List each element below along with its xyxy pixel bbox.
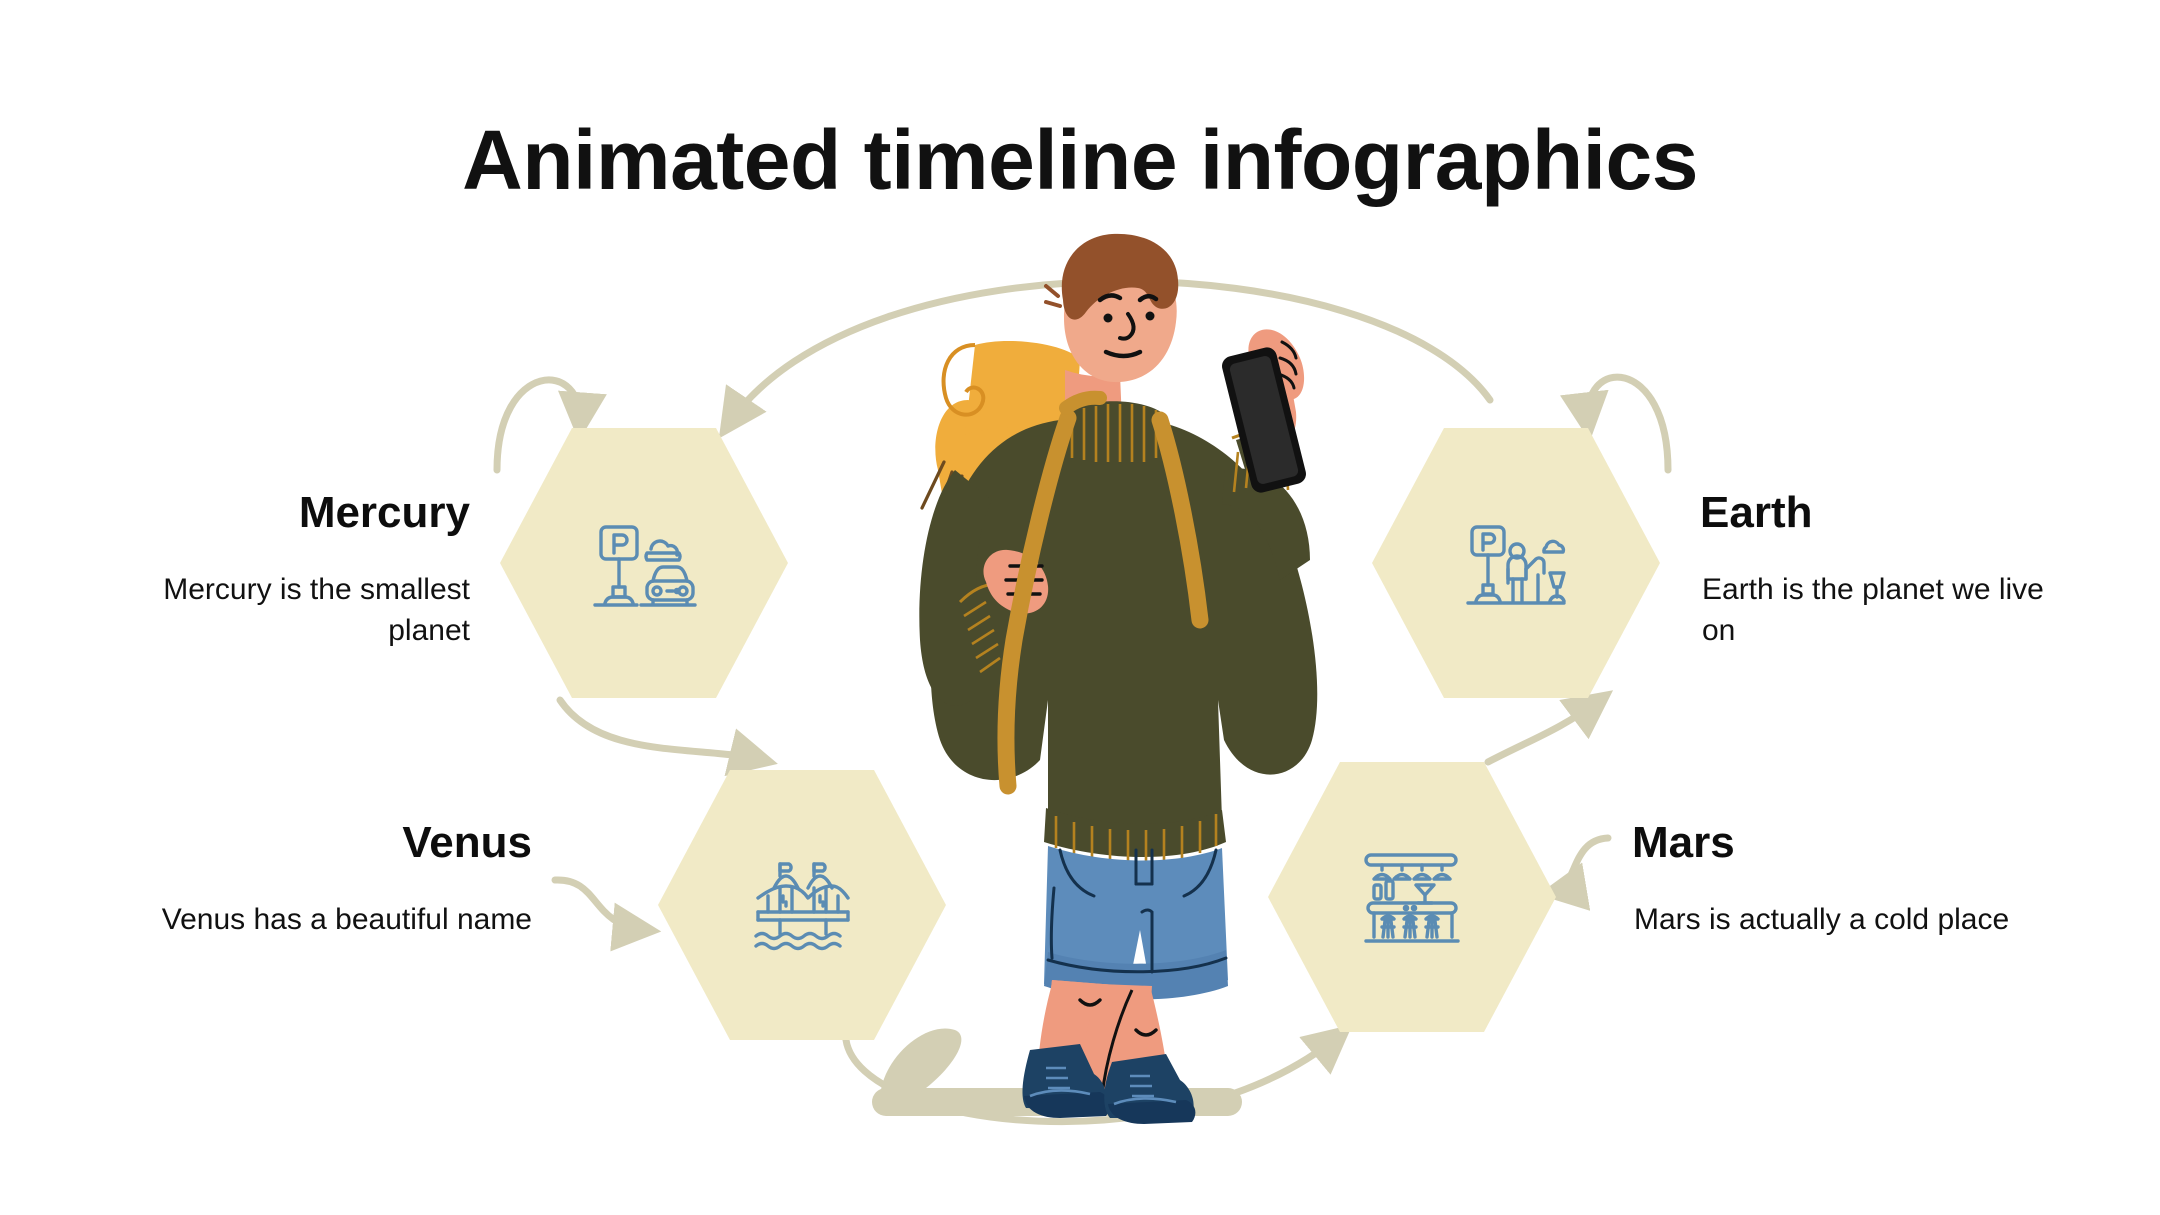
item-title-earth: Earth: [1700, 490, 2140, 536]
item-description-venus: Venus has a beautiful name: [160, 900, 532, 941]
arrow-into-venus-left: [555, 880, 645, 930]
arrow-mercury-to-venus: [560, 700, 762, 760]
item-description-mercury: Mercury is the smallest planet: [100, 570, 470, 651]
boots: [1023, 1044, 1196, 1124]
item-title-mercury: Mercury: [0, 490, 470, 536]
item-title-mars: Mars: [1632, 820, 2072, 866]
hexagon-venus[interactable]: [658, 770, 946, 1040]
phone: [1220, 345, 1308, 494]
arrow-into-mars-right: [1554, 838, 1608, 892]
parking-person-icon: [1462, 513, 1570, 613]
hexagon-mars[interactable]: [1268, 762, 1556, 1032]
hexagon-earth[interactable]: [1372, 428, 1660, 698]
arrow-top-arc-to-mercury: [728, 281, 1490, 425]
item-description-mars: Mars is actually a cold place: [1634, 900, 2034, 941]
head: [1046, 234, 1178, 432]
legs: [1038, 980, 1171, 1116]
bar-counter-icon: [1360, 847, 1464, 947]
arrow-venus-to-mars: [846, 1035, 1340, 1122]
page-title: Animated timeline infographics: [0, 118, 2160, 202]
backpack: [922, 341, 1080, 644]
parking-car-icon: [589, 513, 699, 613]
bridge-icon: [750, 858, 854, 952]
sweater: [919, 329, 1317, 862]
ground-shadow: [872, 1028, 1242, 1116]
hexagon-mercury[interactable]: [500, 428, 788, 698]
arrow-mars-to-earth: [1488, 700, 1600, 762]
item-description-earth: Earth is the planet we live on: [1702, 570, 2062, 651]
item-title-venus: Venus: [0, 820, 532, 866]
shorts: [1044, 846, 1228, 1000]
slide-canvas: Animated timeline infographics: [0, 0, 2160, 1215]
